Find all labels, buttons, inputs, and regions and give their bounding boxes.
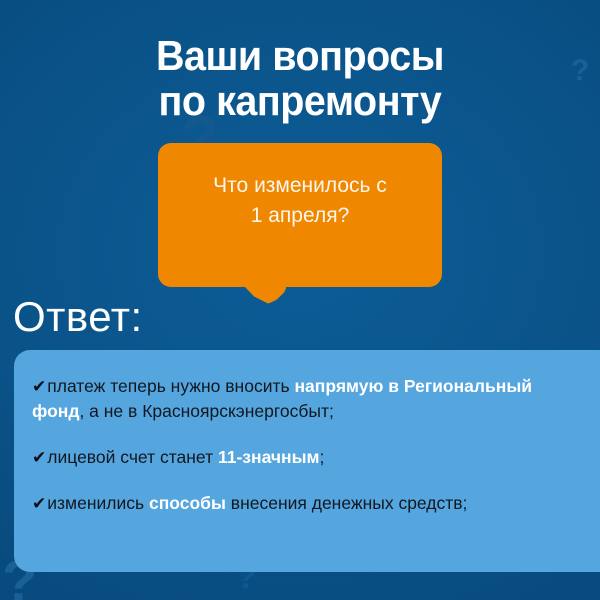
plain-text: внесения денежных средств; bbox=[226, 493, 468, 513]
checkmark-icon: ✔ bbox=[32, 377, 46, 396]
answer-panel: ✔платеж теперь нужно вносить напрямую в … bbox=[14, 350, 600, 572]
list-item: ✔изменились способы внесения денежных ср… bbox=[32, 491, 577, 516]
question-text: Что изменилось с 1 апреля? bbox=[213, 171, 387, 231]
list-item-text: платеж теперь нужно вносить напрямую в Р… bbox=[32, 376, 532, 421]
list-item: ✔платеж теперь нужно вносить напрямую в … bbox=[32, 374, 577, 424]
list-item: ✔лицевой счет станет 11-значным; bbox=[32, 445, 577, 470]
emphasized-text: 11-значным bbox=[218, 447, 320, 467]
answer-label: Ответ: bbox=[13, 293, 143, 341]
page-title-line-1: Ваши вопросы bbox=[18, 33, 582, 78]
plain-text: лицевой счет станет bbox=[47, 447, 218, 467]
plain-text: , а не в Красноярскэнергосбыт; bbox=[79, 401, 333, 421]
checkmark-icon: ✔ bbox=[32, 448, 46, 467]
list-item-text: лицевой счет станет 11-значным; bbox=[47, 447, 324, 467]
page-title: Ваши вопросы по капремонту bbox=[18, 33, 582, 124]
plain-text: ; bbox=[319, 447, 324, 467]
plain-text: платеж теперь нужно вносить bbox=[47, 376, 294, 396]
question-speech-bubble: Что изменилось с 1 апреля? bbox=[158, 143, 442, 287]
checkmark-icon: ✔ bbox=[32, 494, 46, 513]
emphasized-text: способы bbox=[149, 493, 226, 513]
list-item-text: изменились способы внесения денежных сре… bbox=[47, 493, 467, 513]
page-title-line-2: по капремонту bbox=[18, 78, 582, 123]
plain-text: изменились bbox=[47, 493, 149, 513]
poster-canvas: ? ? ? ? Ваши вопросы по капремонту Что и… bbox=[0, 0, 600, 600]
